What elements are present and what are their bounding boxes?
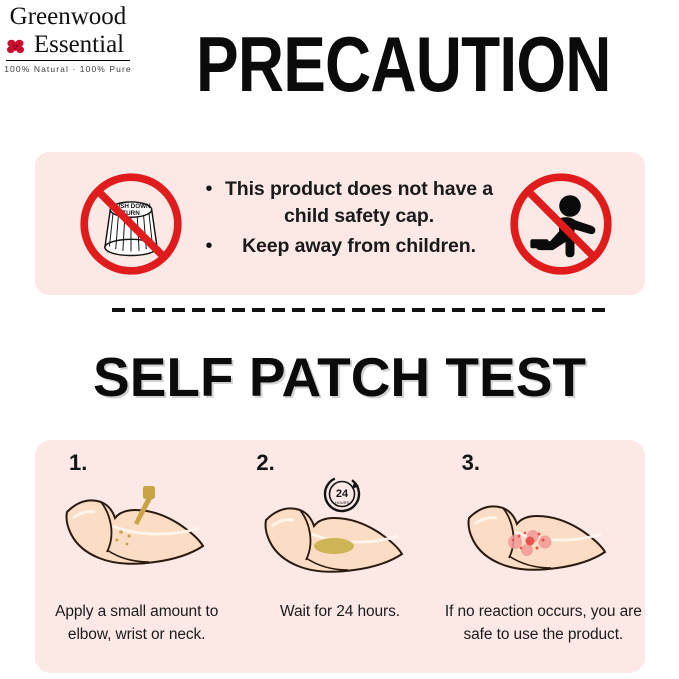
dashed-divider: [112, 308, 608, 312]
patch-test-step-1: 1. Apply a small amount: [35, 440, 238, 673]
page-header: Greenwood Essential 100% Natural · 10: [0, 0, 679, 140]
brand-name-line2-row: Essential: [4, 30, 132, 60]
no-child-safety-cap-icon: PUSH DOWN TURN: [77, 170, 185, 278]
clock-label: 24: [336, 488, 349, 500]
no-children-icon: [507, 170, 615, 278]
precaution-text: Keep away from children.: [223, 233, 495, 260]
elbow-with-24-hours-clock-icon: 24 HOURS: [238, 470, 441, 580]
clock-24-hours-icon: 24 HOURS: [318, 470, 366, 518]
page-title: PRECAUTION: [196, 24, 524, 104]
patch-test-steps-panel: 1. Apply a small amount: [35, 440, 645, 673]
bullet-marker: •: [195, 176, 223, 203]
patch-test-step-2: 2. 24 HOURS Wait for 24 hours.: [238, 440, 441, 673]
clock-sublabel: HOURS: [335, 500, 350, 505]
red-flower-icon: [6, 37, 25, 56]
precaution-panel: PUSH DOWN TURN • This product does not h…: [35, 152, 645, 295]
precaution-bullet-list: • This product does not have a child saf…: [195, 176, 495, 263]
elbow-with-rash-icon: [442, 470, 645, 580]
step-caption: Wait for 24 hours.: [238, 600, 441, 623]
brand-name-line1: Greenwood: [4, 4, 132, 30]
step-caption: If no reaction occurs, you are safe to u…: [442, 600, 645, 646]
patch-test-step-3: 3.: [442, 440, 645, 673]
brand-divider: [6, 60, 130, 61]
list-item: • Keep away from children.: [195, 233, 495, 260]
brand-tagline: 100% Natural · 100% Pure: [4, 64, 132, 74]
section-title-patch-test: SELF PATCH TEST: [0, 347, 679, 407]
bullet-marker: •: [195, 233, 223, 260]
brand-logo: Greenwood Essential 100% Natural · 10: [4, 4, 132, 74]
precaution-text: This product does not have a child safet…: [223, 176, 495, 230]
elbow-with-dropper-icon: [35, 470, 238, 580]
list-item: • This product does not have a child saf…: [195, 176, 495, 230]
step-caption: Apply a small amount to elbow, wrist or …: [35, 600, 238, 646]
